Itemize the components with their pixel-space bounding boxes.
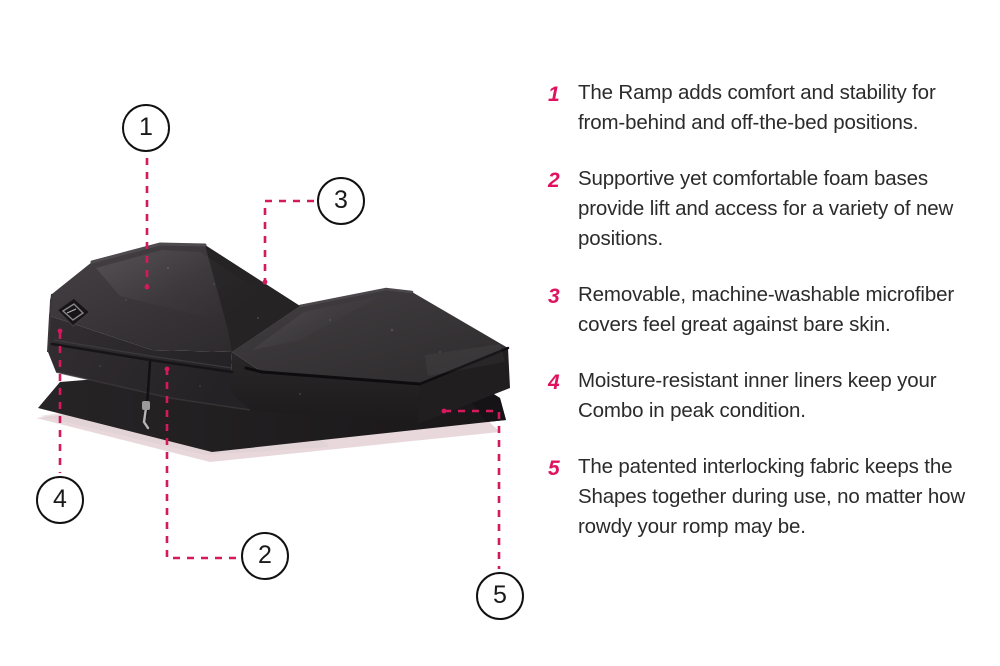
feature-item-2: 2 Supportive yet comfortable foam bases … xyxy=(548,164,968,254)
callout-marker-4-label: 4 xyxy=(53,487,67,512)
feature-item-1: 1 The Ramp adds comfort and stability fo… xyxy=(548,78,968,138)
callout-marker-5[interactable]: 5 xyxy=(476,572,524,620)
callout-marker-5-label: 5 xyxy=(493,583,507,608)
feature-text-2: Supportive yet comfortable foam bases pr… xyxy=(578,164,968,254)
feature-number-2: 2 xyxy=(548,164,578,196)
callout-marker-1[interactable]: 1 xyxy=(122,104,170,152)
callout-marker-2[interactable]: 2 xyxy=(241,532,289,580)
feature-number-4: 4 xyxy=(548,366,578,398)
leader-line-3 xyxy=(265,201,314,281)
feature-text-4: Moisture-resistant inner liners keep you… xyxy=(578,366,968,426)
feature-item-5: 5 The patented interlocking fabric keeps… xyxy=(548,452,968,542)
feature-number-1: 1 xyxy=(548,78,578,110)
feature-text-5: The patented interlocking fabric keeps t… xyxy=(578,452,968,542)
feature-text-1: The Ramp adds comfort and stability for … xyxy=(578,78,968,138)
callout-marker-3-label: 3 xyxy=(334,188,348,213)
feature-item-4: 4 Moisture-resistant inner liners keep y… xyxy=(548,366,968,426)
callout-marker-4[interactable]: 4 xyxy=(36,476,84,524)
callout-marker-1-label: 1 xyxy=(139,115,153,140)
feature-number-5: 5 xyxy=(548,452,578,484)
feature-list: 1 The Ramp adds comfort and stability fo… xyxy=(548,78,968,542)
feature-item-3: 3 Removable, machine-washable microfiber… xyxy=(548,280,968,340)
product-feature-callout-page: 1 2 3 4 5 1 The Ramp adds comfort and st… xyxy=(0,0,1000,666)
callout-marker-3[interactable]: 3 xyxy=(317,177,365,225)
callout-marker-2-label: 2 xyxy=(258,543,272,568)
feature-number-3: 3 xyxy=(548,280,578,312)
feature-text-3: Removable, machine-washable microfiber c… xyxy=(578,280,968,340)
